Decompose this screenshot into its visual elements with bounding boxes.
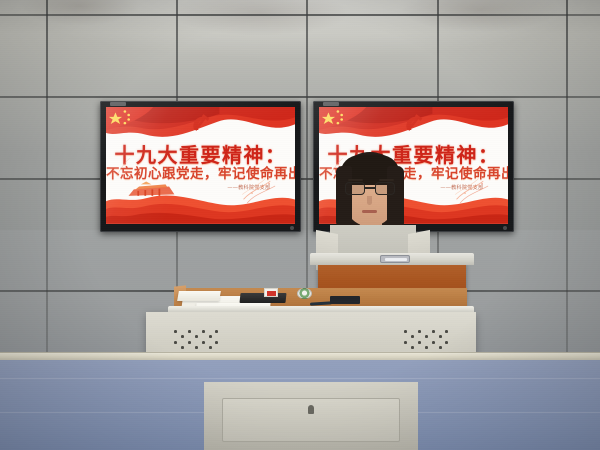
- desk-papers[interactable]: [177, 291, 221, 301]
- display-brand-logo: [110, 102, 126, 106]
- eyebrow-left: [348, 179, 363, 181]
- left-display-screen: 十九大重要精神： 不忘初心跟党走，牢记使命再出发 ——教科院党支部: [106, 107, 295, 224]
- desk-keyboard[interactable]: [239, 293, 286, 303]
- podium-drawer[interactable]: [222, 398, 400, 442]
- floor-seam: [0, 378, 600, 379]
- glasses-lens-right: [375, 182, 395, 195]
- mouth: [362, 210, 377, 213]
- desk-black-pad[interactable]: [330, 296, 360, 304]
- eyebrow-right: [379, 179, 394, 181]
- desk-flag-card[interactable]: [264, 288, 278, 297]
- chinese-national-flag: [319, 107, 368, 137]
- cpc-hammer-sickle-emblem: [401, 112, 426, 137]
- display-power-led: [503, 226, 507, 230]
- podium-handle[interactable]: [380, 255, 410, 263]
- podium-base: [204, 382, 418, 450]
- wall-seam: [0, 96, 600, 98]
- cpc-hammer-sickle-emblem: [188, 112, 213, 137]
- sparkle-ribbons-left: [110, 156, 136, 179]
- lock-icon[interactable]: [308, 405, 314, 414]
- slide-left: 十九大重要精神： 不忘初心跟党走，牢记使命再出发 ——教科院党支部: [106, 107, 295, 224]
- podium-handle-inner: [385, 258, 407, 261]
- wall-seam: [0, 14, 600, 16]
- glasses-icon: [345, 182, 395, 195]
- hair-left-strand: [336, 166, 352, 230]
- desk-tape-roll[interactable]: [297, 288, 312, 299]
- glasses-lens-left: [345, 182, 365, 195]
- left-display[interactable]: 十九大重要精神： 不忘初心跟党走，牢记使命再出发 ——教科院党支部: [100, 101, 301, 232]
- glasses-bridge: [365, 187, 375, 189]
- red-ribbon-wave-bottom: [106, 184, 295, 224]
- display-power-led: [290, 226, 294, 230]
- chinese-national-flag: [106, 107, 155, 137]
- flag-card-graphic: [267, 291, 276, 296]
- nose: [367, 196, 372, 205]
- room-photo: 十九大重要精神： 不忘初心跟党走，牢记使命再出发 ——教科院党支部: [0, 0, 600, 450]
- display-brand-logo: [323, 102, 339, 106]
- hair-right-strand: [387, 166, 404, 232]
